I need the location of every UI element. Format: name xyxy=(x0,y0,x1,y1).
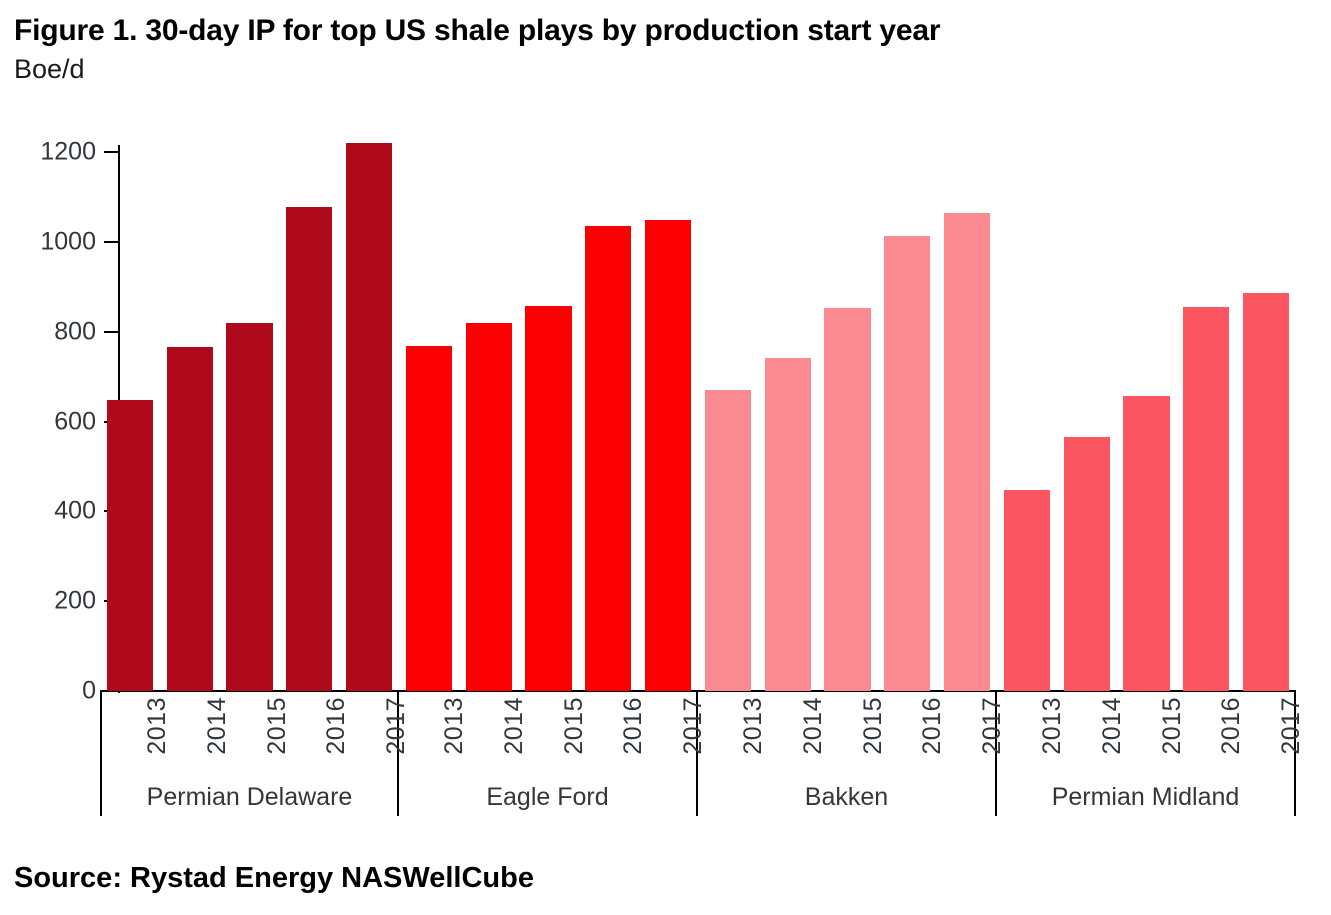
x-axis-year-label: 2015 xyxy=(560,697,589,755)
chart-plot-area: 020040060080010001200 201320142015201620… xyxy=(0,0,1331,915)
x-axis-year-label: 2017 xyxy=(1277,697,1306,755)
x-axis-year-label: 2016 xyxy=(619,697,648,755)
bar-bakken-2016[interactable] xyxy=(884,236,930,691)
bar-permian-delaware-2015[interactable] xyxy=(226,323,272,691)
x-axis-group-eagle-ford: 20132014201520162017Eagle Ford xyxy=(399,691,698,816)
bar-permian-delaware-2016[interactable] xyxy=(286,207,332,691)
x-axis-year-label: 2016 xyxy=(1217,697,1246,755)
bar-eagle-ford-2013[interactable] xyxy=(406,346,452,691)
x-axis-year-label: 2013 xyxy=(143,697,172,755)
bar-bakken-2013[interactable] xyxy=(705,390,751,691)
bar-bakken-2014[interactable] xyxy=(765,358,811,691)
bar-bakken-2015[interactable] xyxy=(824,308,870,691)
x-axis-category-band: 20132014201520162017Permian Delaware2013… xyxy=(100,691,1296,816)
bar-permian-delaware-2014[interactable] xyxy=(167,347,213,691)
x-axis-group-permian-midland: 20132014201520162017Permian Midland xyxy=(997,691,1296,816)
x-axis-year-label: 2016 xyxy=(918,697,947,755)
bar-permian-midland-2013[interactable] xyxy=(1004,490,1050,691)
bar-permian-delaware-2013[interactable] xyxy=(107,400,153,691)
x-axis-year-label: 2015 xyxy=(859,697,888,755)
x-axis-year-label: 2015 xyxy=(1158,697,1187,755)
x-axis-year-label: 2016 xyxy=(322,697,351,755)
bar-permian-midland-2017[interactable] xyxy=(1243,293,1289,691)
x-axis-year-label: 2013 xyxy=(739,697,768,755)
bar-permian-delaware-2017[interactable] xyxy=(346,143,392,691)
bar-eagle-ford-2015[interactable] xyxy=(525,306,571,691)
x-axis-group-label: Permian Midland xyxy=(997,783,1294,812)
bar-eagle-ford-2014[interactable] xyxy=(466,323,512,691)
bars-layer xyxy=(0,0,1331,691)
bar-eagle-ford-2017[interactable] xyxy=(645,220,691,691)
x-axis-group-label: Bakken xyxy=(698,783,995,812)
x-axis-group-bakken: 20132014201520162017Bakken xyxy=(698,691,997,816)
x-axis-year-label: 2014 xyxy=(1098,697,1127,755)
bar-eagle-ford-2016[interactable] xyxy=(585,226,631,691)
x-axis-group-label: Permian Delaware xyxy=(102,783,397,812)
bar-permian-midland-2016[interactable] xyxy=(1183,307,1229,691)
x-axis-year-label: 2014 xyxy=(500,697,529,755)
x-axis-year-label: 2014 xyxy=(203,697,232,755)
source-note: Source: Rystad Energy NASWellCube xyxy=(14,862,534,895)
x-axis-year-label: 2013 xyxy=(440,697,469,755)
x-axis-group-permian-delaware: 20132014201520162017Permian Delaware xyxy=(100,691,399,816)
bar-permian-midland-2015[interactable] xyxy=(1123,396,1169,691)
bar-bakken-2017[interactable] xyxy=(944,213,990,691)
x-axis-group-label: Eagle Ford xyxy=(399,783,696,812)
x-axis-year-label: 2013 xyxy=(1038,697,1067,755)
bar-permian-midland-2014[interactable] xyxy=(1064,437,1110,691)
x-axis-year-label: 2014 xyxy=(799,697,828,755)
x-axis-year-label: 2015 xyxy=(263,697,292,755)
